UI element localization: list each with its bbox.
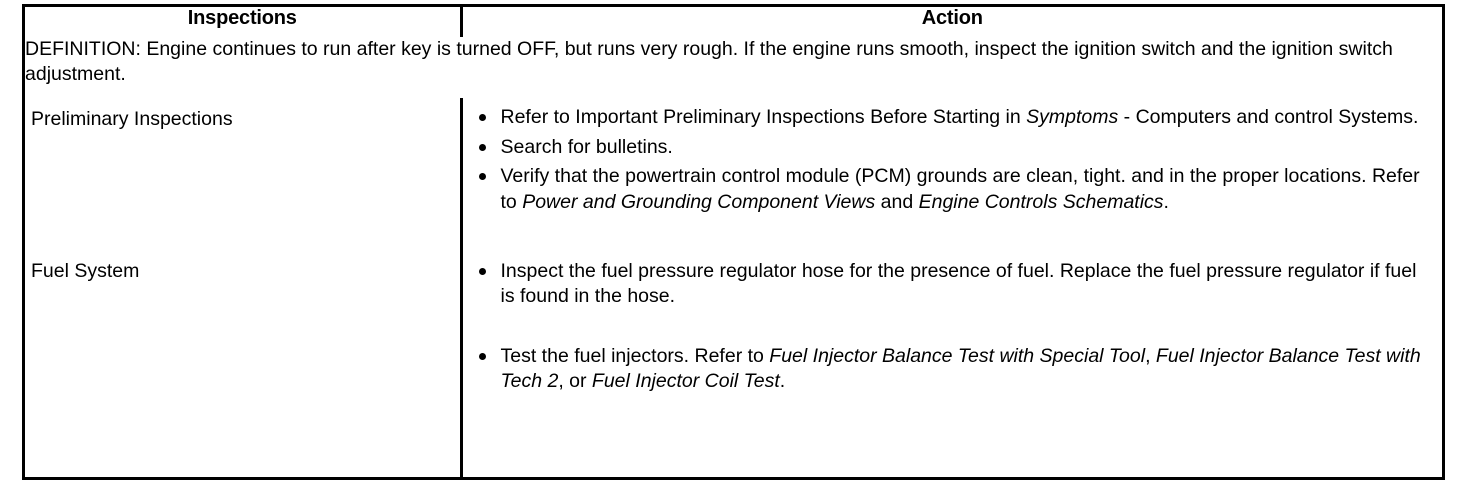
action-cell-preliminary-inspections: Refer to Important Preliminary Inspectio… [461, 98, 1442, 249]
table-header: Inspections Action [25, 7, 1442, 37]
action-item: Search for bulletins. [476, 135, 1433, 161]
action-list-fuel-system: Inspect the fuel pressure regulator hose… [463, 250, 1443, 435]
action-text-emphasis: Fuel Injector Coil Test [592, 370, 780, 392]
diagnostic-table: Inspections Action DEFINITION: Engine co… [25, 7, 1442, 477]
bullet-icon [479, 268, 486, 275]
action-text: . [1164, 191, 1169, 213]
inspection-label-fuel-system: Fuel System [25, 250, 461, 477]
action-item: Test the fuel injectors. Refer to Fuel I… [476, 344, 1433, 395]
action-text-emphasis: Symptoms [1026, 106, 1118, 128]
action-text: Inspect the fuel pressure regulator hose… [501, 260, 1417, 308]
header-row: Inspections Action [25, 7, 1442, 37]
action-text: and [875, 191, 918, 213]
action-item: Refer to Important Preliminary Inspectio… [476, 105, 1433, 131]
bullet-icon [479, 353, 486, 360]
action-text: Search for bulletins. [501, 136, 673, 158]
definition-row: DEFINITION: Engine continues to run afte… [25, 37, 1442, 98]
column-header-action: Action [461, 7, 1442, 37]
bullet-icon [479, 144, 486, 151]
diagnostic-table-container: Inspections Action DEFINITION: Engine co… [22, 4, 1445, 480]
action-text: , or [558, 370, 592, 392]
action-text: Test the fuel injectors. Refer to [501, 345, 770, 367]
action-text-emphasis: Engine Controls Schematics [919, 191, 1164, 213]
action-item: Verify that the powertrain control modul… [476, 164, 1433, 215]
action-list-preliminary-inspections: Refer to Important Preliminary Inspectio… [463, 98, 1443, 221]
table-body: DEFINITION: Engine continues to run afte… [25, 37, 1442, 477]
action-text: , [1145, 345, 1156, 367]
bullet-icon [479, 114, 486, 121]
column-header-inspections: Inspections [25, 7, 461, 37]
action-item: Inspect the fuel pressure regulator hose… [476, 259, 1433, 310]
table-row-preliminary-inspections: Preliminary Inspections Refer to Importa… [25, 98, 1442, 249]
table-row-fuel-system: Fuel System Inspect the fuel pressure re… [25, 250, 1442, 477]
bullet-icon [479, 173, 486, 180]
action-cell-fuel-system: Inspect the fuel pressure regulator hose… [461, 250, 1442, 477]
inspection-label-preliminary-inspections: Preliminary Inspections [25, 98, 461, 249]
action-text: . [780, 370, 785, 392]
action-text: Refer to Important Preliminary Inspectio… [501, 106, 1027, 128]
action-text: - Computers and control Systems. [1118, 106, 1418, 128]
action-text-emphasis: Fuel Injector Balance Test with Special … [769, 345, 1145, 367]
action-text-emphasis: Power and Grounding Component Views [522, 191, 875, 213]
definition-text: DEFINITION: Engine continues to run afte… [25, 37, 1442, 98]
